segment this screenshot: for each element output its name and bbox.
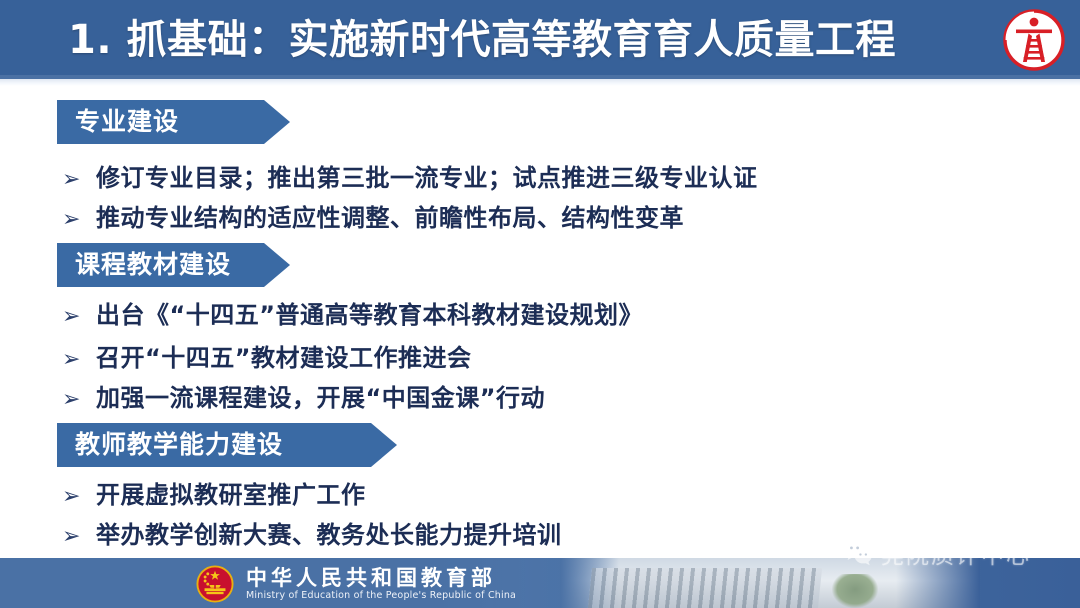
bullet-item: ➢ 推动专业结构的适应性调整、前瞻性布局、结构性变革: [62, 198, 684, 233]
campus-building-photo: [560, 558, 980, 608]
bullet-arrow-icon: ➢: [62, 207, 96, 232]
section-banner-teacher-capability-construction: 教师教学能力建设: [57, 423, 397, 467]
bullet-text: 开展虚拟教研室推广工作: [96, 475, 366, 510]
building-shape: [588, 568, 822, 608]
china-national-emblem: [196, 565, 234, 603]
page-title: 1. 抓基础：实施新时代高等教育育人质量工程: [68, 7, 896, 73]
bullet-arrow-icon: ➢: [62, 387, 96, 412]
bullet-text: 修订专业目录；推出第三批一流专业；试点推进三级专业认证: [96, 158, 758, 193]
header-underline: [0, 79, 1080, 86]
slide: 1. 抓基础：实施新时代高等教育育人质量工程 专业建设 ➢ 修订专业目录；推出第…: [0, 0, 1080, 608]
bullet-arrow-icon: ➢: [62, 484, 96, 509]
section-banner-course-textbook-construction: 课程教材建设: [57, 243, 290, 287]
ministry-text-block: 中华人民共和国教育部 Ministry of Education of the …: [246, 566, 516, 602]
bullet-item: ➢ 出台《“十四五”普通高等教育本科教材建设规划》: [62, 295, 643, 330]
bullet-item: ➢ 举办教学创新大赛、教务处长能力提升培训: [62, 515, 562, 550]
bullet-item: ➢ 加强一流课程建设，开展“中国金课”行动: [62, 378, 545, 413]
bullet-text: 加强一流课程建设，开展“中国金课”行动: [96, 378, 545, 413]
bullet-arrow-icon: ➢: [62, 347, 96, 372]
bullet-item: ➢ 修订专业目录；推出第三批一流专业；试点推进三级专业认证: [62, 158, 758, 193]
ministry-of-education-wordmark: 中华人民共和国教育部 Ministry of Education of the …: [196, 562, 516, 606]
bullet-arrow-icon: ➢: [62, 524, 96, 549]
footer-band: [0, 558, 1080, 608]
bullet-item: ➢ 开展虚拟教研室推广工作: [62, 475, 366, 510]
bullet-text: 推动专业结构的适应性调整、前瞻性布局、结构性变革: [96, 198, 684, 233]
ministry-name-cn: 中华人民共和国教育部: [246, 566, 516, 590]
bullet-text: 出台《“十四五”普通高等教育本科教材建设规划》: [96, 295, 643, 330]
bullet-arrow-icon: ➢: [62, 304, 96, 329]
tree-shape: [832, 574, 878, 608]
ministry-name-en: Ministry of Education of the People's Re…: [246, 590, 516, 602]
bullet-text: 召开“十四五”教材建设工作推进会: [96, 338, 472, 373]
bullet-item: ➢ 召开“十四五”教材建设工作推进会: [62, 338, 472, 373]
section-banner-major-construction: 专业建设: [57, 100, 290, 144]
red-tower-circle-logo: [1002, 8, 1066, 72]
bullet-arrow-icon: ➢: [62, 167, 96, 192]
bullet-text: 举办教学创新大赛、教务处长能力提升培训: [96, 515, 562, 550]
